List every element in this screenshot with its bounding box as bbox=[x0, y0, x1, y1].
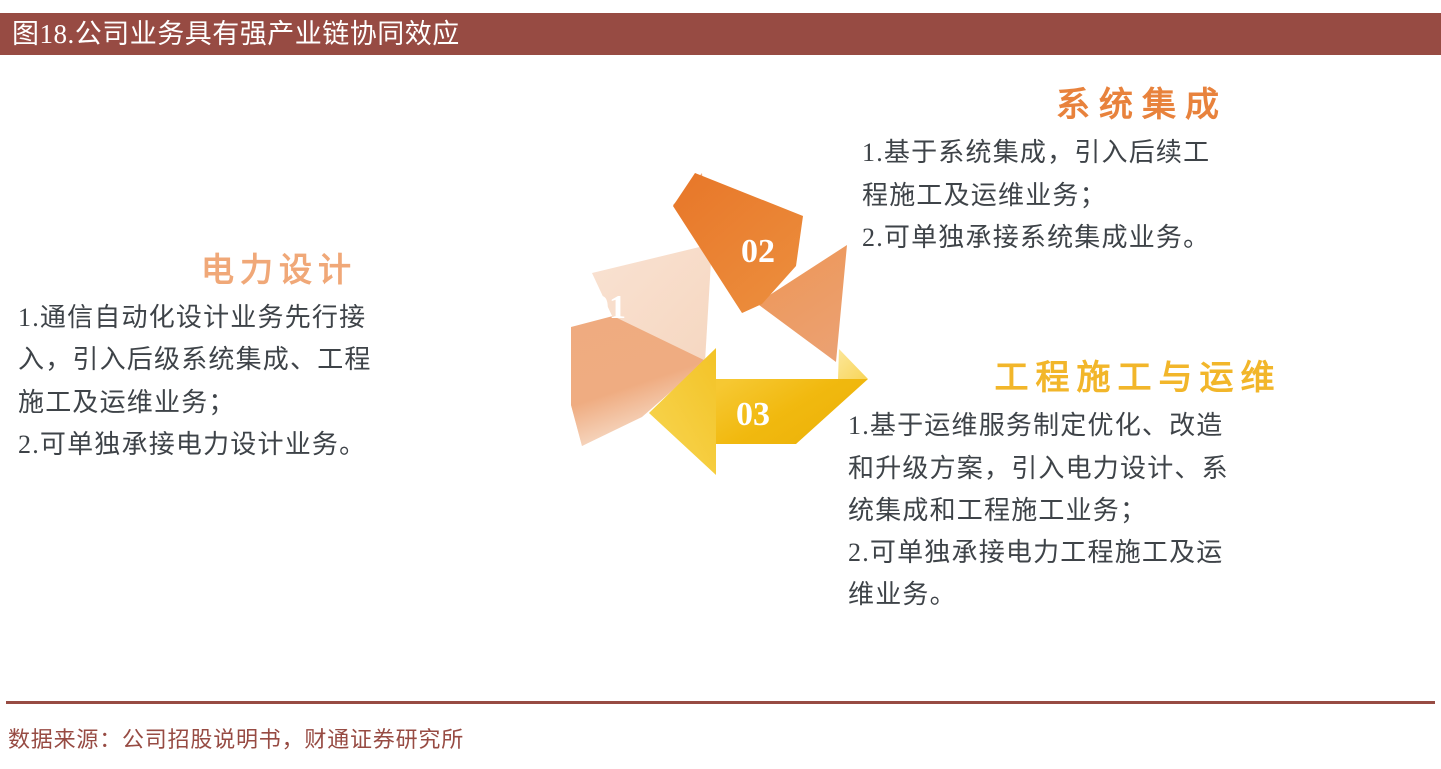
panel-system-integration-line-1: 1.基于系统集成，引入后续工 bbox=[862, 132, 1422, 174]
panel-system-integration-body: 1.基于系统集成，引入后续工 程施工及运维业务； 2.可单独承接系统集成业务。 bbox=[862, 132, 1422, 258]
panel-system-integration-title: 系统集成 bbox=[862, 87, 1422, 124]
source-note: 数据来源：公司招股说明书，财通证券研究所 bbox=[8, 722, 464, 754]
footer-divider bbox=[6, 701, 1435, 704]
panel-system-integration-line-2: 程施工及运维业务； bbox=[862, 175, 1422, 217]
panel-power-design-title: 电力设计 bbox=[18, 253, 540, 289]
panel-power-design-line-2: 入，引入后级系统集成、工程 bbox=[18, 339, 540, 381]
panel-engineering-ops-title: 工程施工与运维 bbox=[848, 360, 1428, 397]
panel-power-design-line-1: 1.通信自动化设计业务先行接 bbox=[18, 297, 540, 339]
panel-engineering-ops-line-3: 统集成和工程施工业务； bbox=[848, 490, 1428, 532]
panel-engineering-ops: 工程施工与运维 1.基于运维服务制定优化、改造 和升级方案，引入电力设计、系 统… bbox=[848, 360, 1428, 616]
cycle-arrow-02-number: 02 bbox=[741, 233, 775, 270]
cycle-arrow-03-number: 03 bbox=[736, 396, 770, 433]
panel-system-integration-line-3: 2.可单独承接系统集成业务。 bbox=[862, 217, 1422, 259]
panel-system-integration: 系统集成 1.基于系统集成，引入后续工 程施工及运维业务； 2.可单独承接系统集… bbox=[862, 87, 1422, 259]
panel-engineering-ops-body: 1.基于运维服务制定优化、改造 和升级方案，引入电力设计、系 统集成和工程施工业… bbox=[848, 405, 1428, 616]
cycle-arrow-03-tip bbox=[838, 349, 868, 379]
panel-engineering-ops-line-5: 维业务。 bbox=[848, 574, 1428, 616]
panel-power-design-body: 1.通信自动化设计业务先行接 入，引入后级系统集成、工程 施工及运维业务； 2.… bbox=[18, 297, 540, 465]
panel-engineering-ops-line-2: 和升级方案，引入电力设计、系 bbox=[848, 448, 1428, 490]
panel-power-design: 电力设计 1.通信自动化设计业务先行接 入，引入后级系统集成、工程 施工及运维业… bbox=[18, 253, 540, 466]
cycle-diagram: 01 02 03 bbox=[520, 150, 900, 550]
page-title: 图18.公司业务具有强产业链协同效应 bbox=[0, 21, 460, 48]
figure-header-bar: 图18.公司业务具有强产业链协同效应 bbox=[0, 13, 1441, 55]
cycle-arrow-01-number: 01 bbox=[592, 289, 626, 326]
panel-power-design-line-3: 施工及运维业务； bbox=[18, 382, 540, 424]
figure-body: 电力设计 1.通信自动化设计业务先行接 入，引入后级系统集成、工程 施工及运维业… bbox=[0, 55, 1441, 695]
panel-power-design-line-4: 2.可单独承接电力设计业务。 bbox=[18, 424, 540, 466]
panel-engineering-ops-line-4: 2.可单独承接电力工程施工及运 bbox=[848, 532, 1428, 574]
panel-engineering-ops-line-1: 1.基于运维服务制定优化、改造 bbox=[848, 405, 1428, 447]
